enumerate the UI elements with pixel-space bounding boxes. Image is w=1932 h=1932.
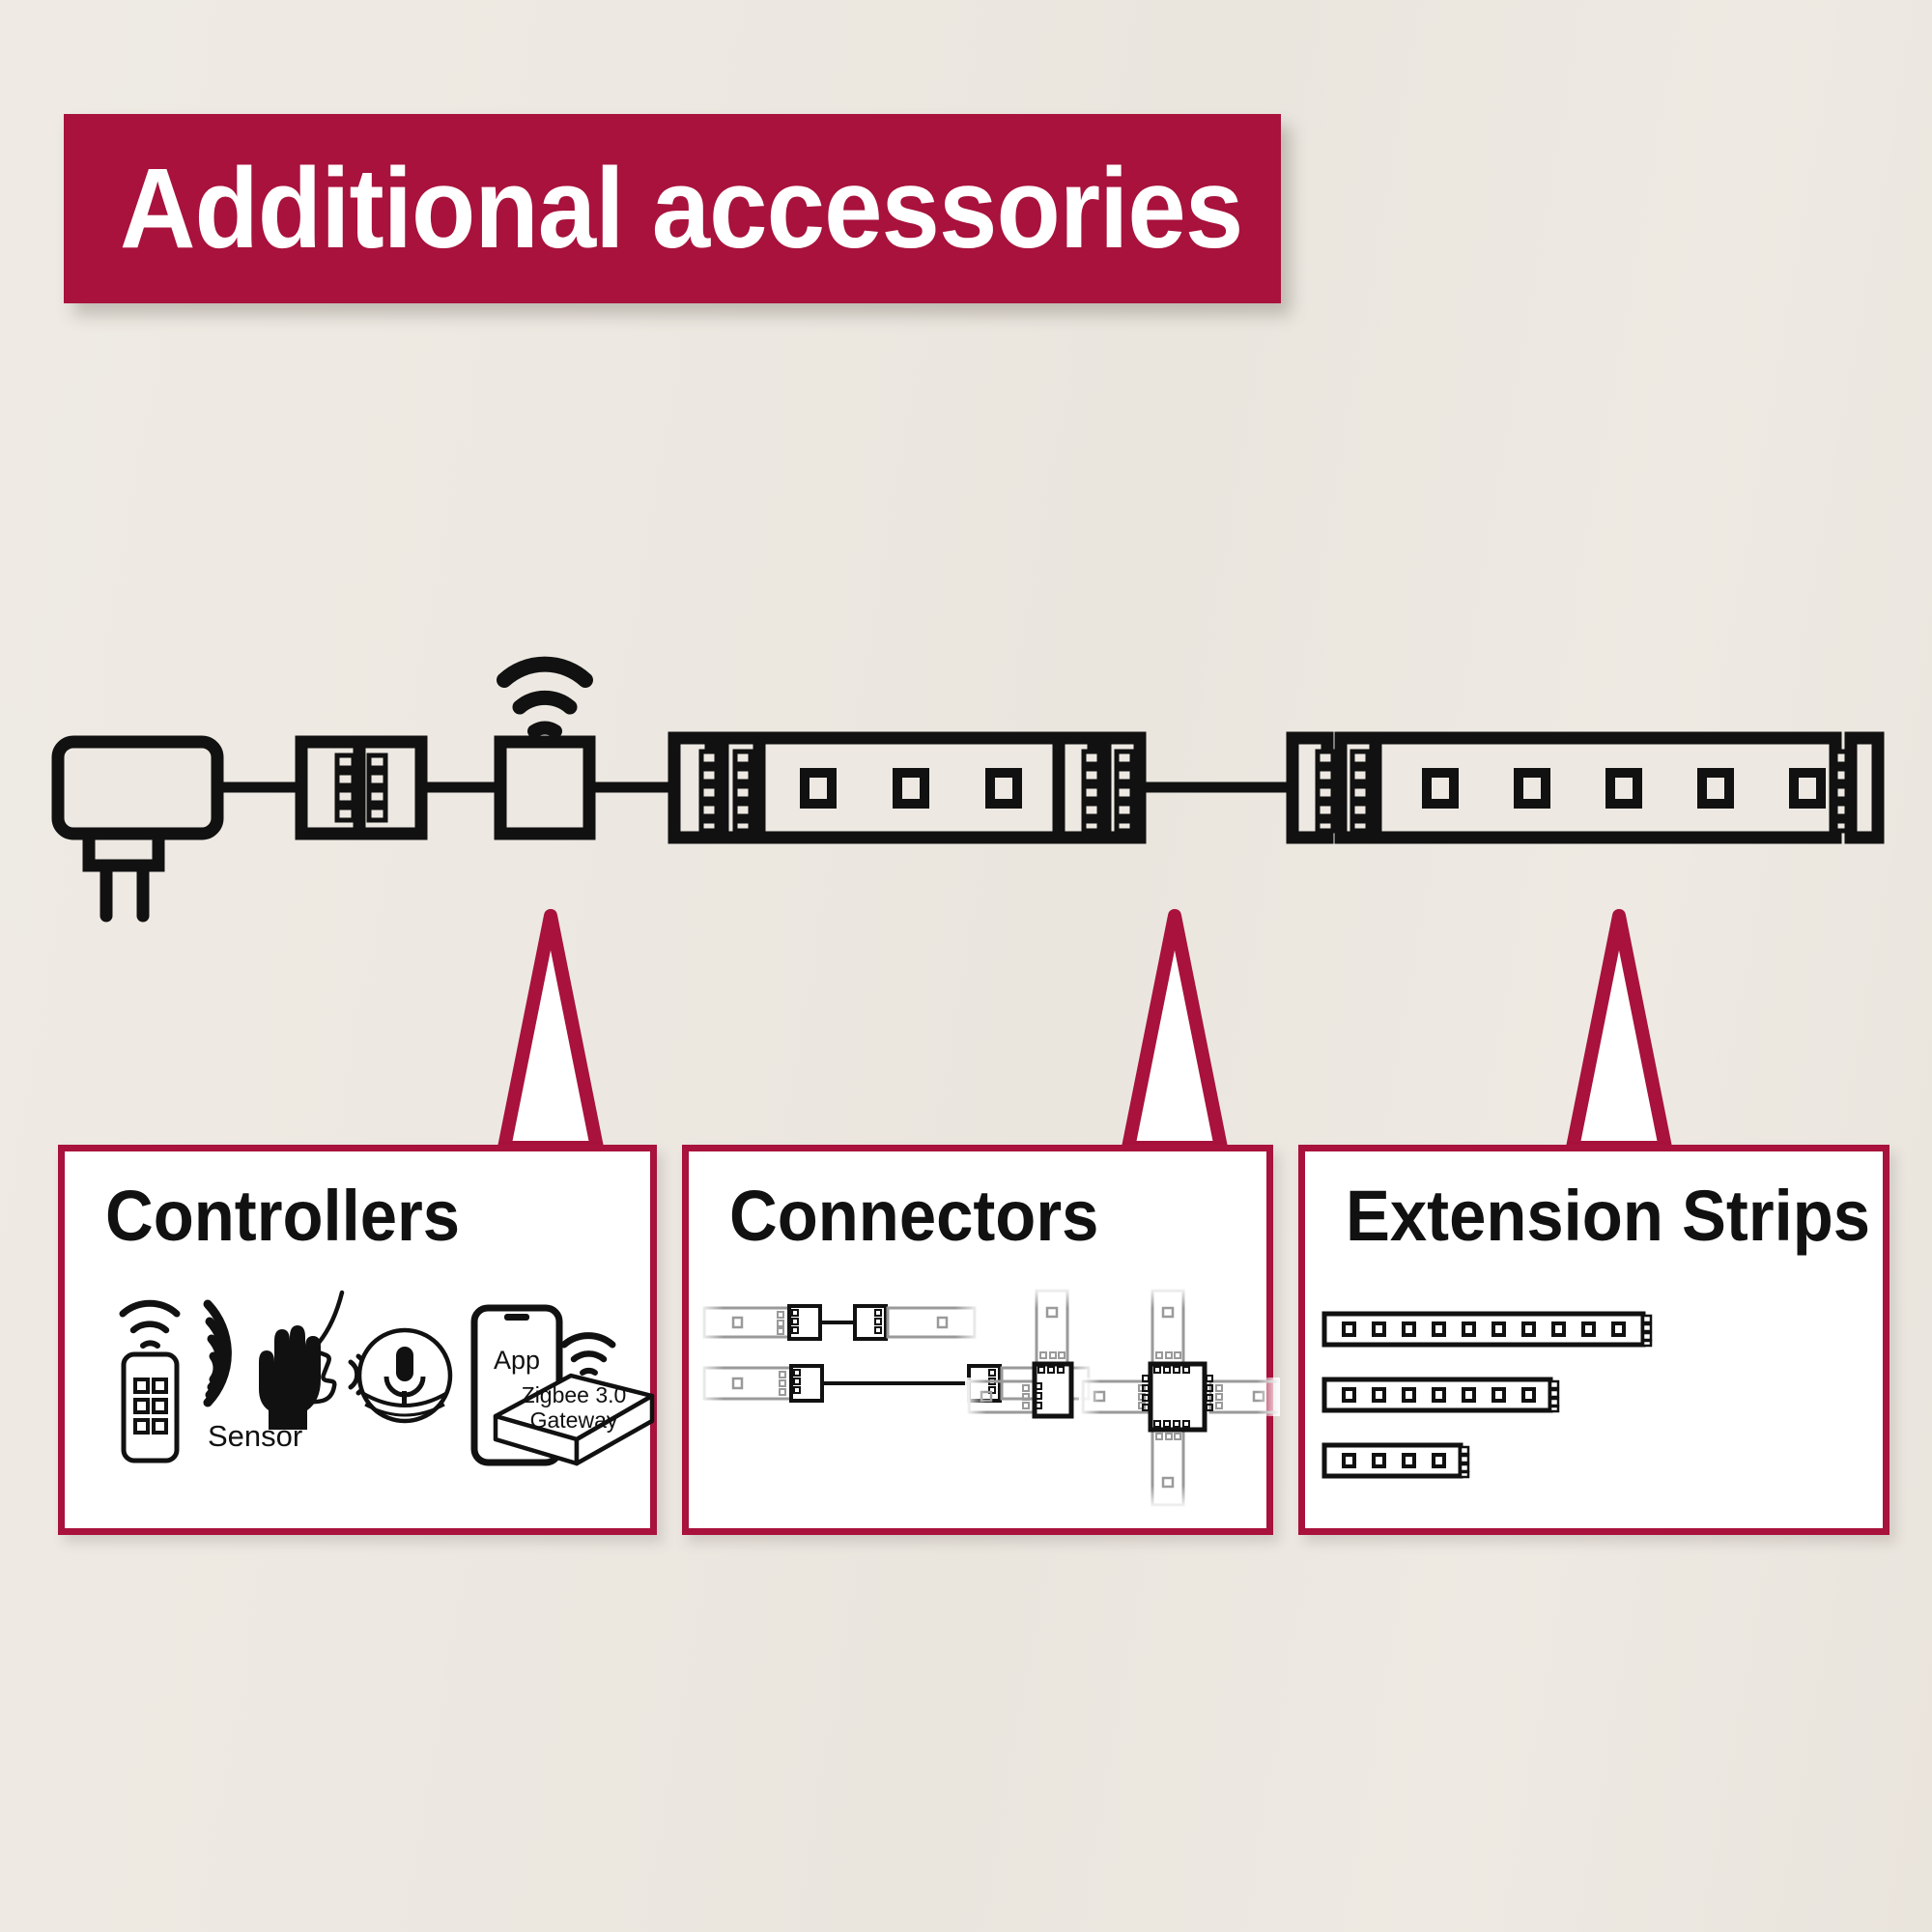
power-supply-icon: [58, 742, 217, 916]
card-controllers[interactable]: Controllers: [58, 1145, 657, 1535]
pointer-extension: [1573, 916, 1665, 1148]
card-art-connectors: [689, 1287, 1266, 1528]
led-strip-1: [674, 738, 1140, 838]
strip-connector-clip-1: [301, 742, 421, 834]
corner-l-connector: [965, 1287, 1071, 1416]
card-title-connectors: Connectors: [729, 1180, 1098, 1252]
sensor-label: Sensor: [208, 1419, 302, 1453]
hand-icon: [259, 1325, 321, 1430]
card-title-controllers: Controllers: [105, 1180, 460, 1252]
led-system-diagram: [0, 638, 1932, 927]
extension-strip-short: [1324, 1445, 1468, 1477]
led-strip-2: [1293, 738, 1878, 838]
pointer-connectors: [1128, 916, 1221, 1148]
wireless-controller-box: [500, 742, 589, 834]
card-extension-strips[interactable]: Extension Strips: [1298, 1145, 1889, 1535]
pointer-controllers: [504, 916, 597, 1148]
extension-strip-long: [1324, 1314, 1651, 1346]
app-label: App: [494, 1346, 540, 1375]
card-pointers: [0, 898, 1932, 1169]
card-art-extension: [1305, 1287, 1883, 1528]
title-banner: Additional accessories: [64, 114, 1281, 303]
strip-to-strip-short-cable-connector: [698, 1304, 980, 1343]
gateway-label-line2: Gateway: [530, 1407, 618, 1433]
motion-sensor-hand-icon: Sensor: [208, 1304, 321, 1453]
accessory-cards-row: Controllers: [0, 1145, 1932, 1550]
voice-assistant-speaker-icon: [301, 1293, 450, 1421]
card-title-extension: Extension Strips: [1346, 1180, 1870, 1252]
remote-control-icon: [123, 1303, 177, 1461]
gateway-label-line1: Zigbee 3.0: [522, 1382, 627, 1407]
card-connectors[interactable]: Connectors: [682, 1145, 1273, 1535]
wifi-icon: [504, 665, 585, 731]
extension-strip-medium: [1324, 1379, 1558, 1411]
card-art-controllers: Sensor: [65, 1287, 650, 1528]
page-title: Additional accessories: [120, 152, 1242, 266]
gateway-wifi-icon: [564, 1336, 612, 1373]
cross-x-connector: [1079, 1287, 1280, 1509]
